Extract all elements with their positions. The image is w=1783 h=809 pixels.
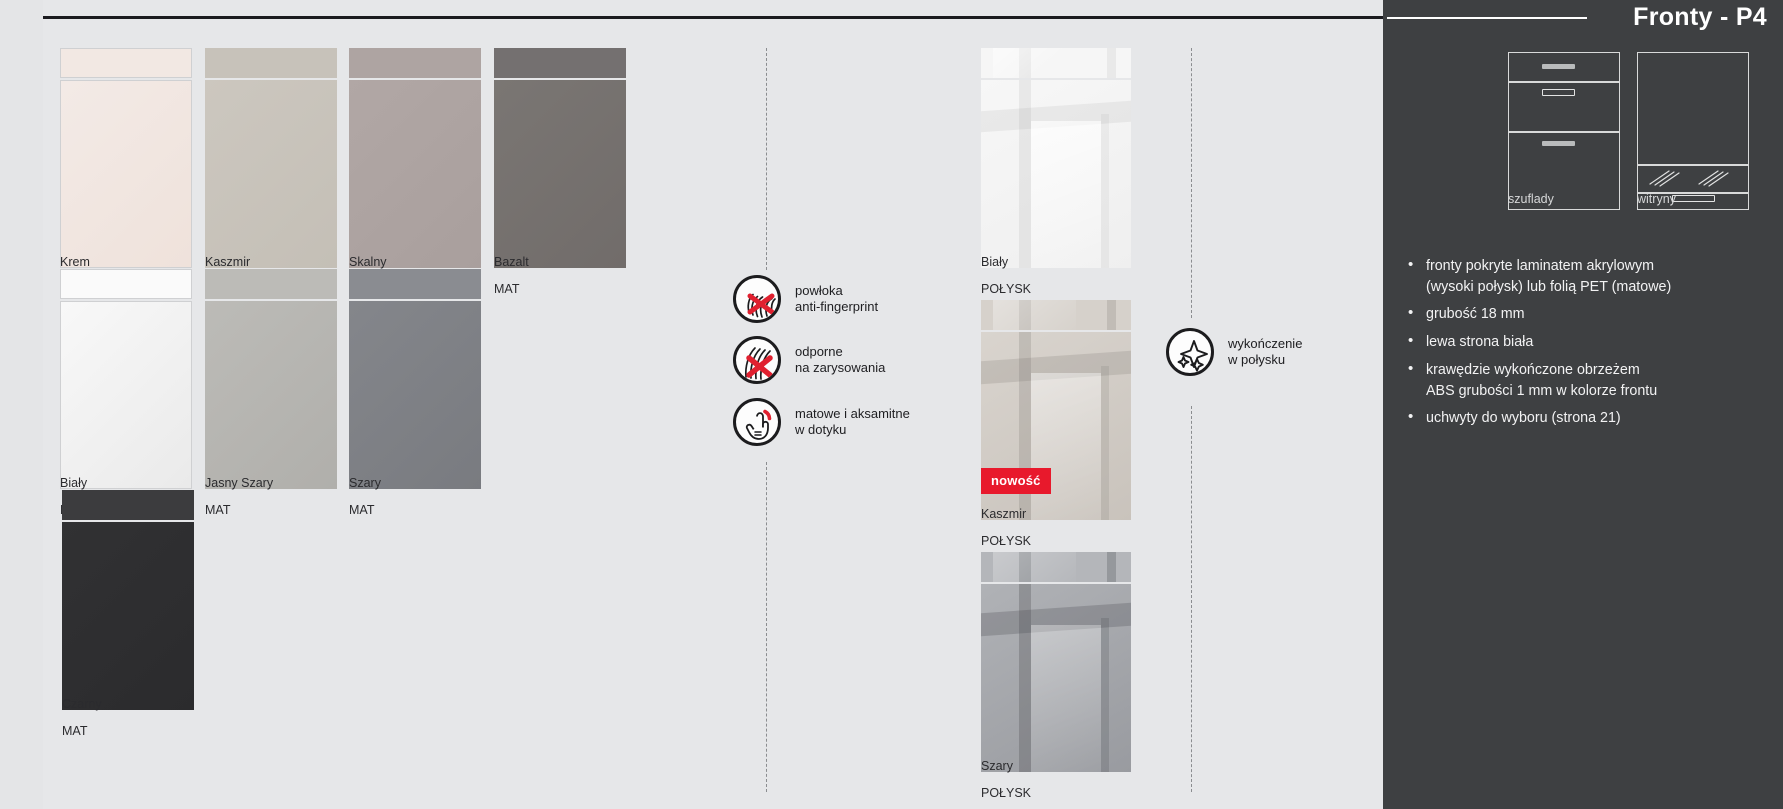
door-preview bbox=[60, 269, 192, 489]
door-body bbox=[494, 80, 626, 268]
touch-finger-icon bbox=[733, 398, 781, 446]
door-body bbox=[62, 522, 194, 710]
door-body bbox=[60, 301, 192, 489]
door-body bbox=[349, 80, 481, 268]
feature-label: powłoka anti-fingerprint bbox=[795, 283, 878, 315]
swatch-name: Biały bbox=[981, 256, 1031, 270]
door-drawer bbox=[494, 48, 626, 78]
door-preview bbox=[205, 48, 337, 268]
swatch-name: Szary bbox=[981, 760, 1031, 774]
cabinet-label-glass: witryny bbox=[1637, 192, 1676, 206]
swatch-czarny-mat[interactable]: Czarny MAT bbox=[62, 490, 194, 752]
door-body bbox=[205, 80, 337, 268]
swatch-name: Czarny bbox=[62, 698, 102, 712]
door-preview bbox=[981, 48, 1131, 268]
swatch-name: Skalny bbox=[349, 256, 387, 270]
drawer-divider bbox=[1509, 131, 1619, 133]
swatch-caption: Szary MAT bbox=[349, 464, 381, 532]
feature-label: matowe i aksamitne w dotyku bbox=[795, 406, 910, 438]
list-item: grubość 18 mm bbox=[1404, 304, 1768, 325]
fingerprint-no-icon bbox=[733, 275, 781, 323]
swatch-finish: MAT bbox=[205, 504, 273, 518]
list-item: uchwyty do wyboru (strona 21) bbox=[1404, 408, 1768, 429]
door-drawer bbox=[349, 48, 481, 78]
swatch-name: Bazalt bbox=[494, 256, 529, 270]
gloss-reflection bbox=[981, 584, 1131, 772]
panel-title-rule bbox=[1387, 17, 1587, 19]
door-drawer bbox=[60, 48, 192, 78]
door-preview bbox=[494, 48, 626, 268]
swatch-finish: POŁYSK bbox=[981, 283, 1031, 297]
door-drawer bbox=[981, 300, 1131, 330]
door-body bbox=[349, 301, 481, 489]
scratch-no-icon bbox=[733, 336, 781, 384]
handle-icon bbox=[1542, 64, 1575, 69]
spec-bullet-list: fronty pokryte laminatem akrylowym (wyso… bbox=[1404, 256, 1768, 436]
cabinet-drawers-diagram bbox=[1508, 52, 1620, 210]
swatch-caption: Czarny MAT bbox=[62, 685, 102, 753]
sparkle-icon bbox=[1166, 328, 1214, 376]
gloss-reflection bbox=[981, 552, 1131, 582]
door-drawer bbox=[60, 269, 192, 299]
swatch-name: Kaszmir bbox=[981, 508, 1031, 522]
swatch-finish: POŁYSK bbox=[981, 787, 1031, 801]
gloss-reflection bbox=[981, 300, 1131, 330]
glass-divider bbox=[1638, 164, 1748, 166]
list-item: krawędzie wykończone obrzeżem ABS gruboś… bbox=[1404, 360, 1768, 401]
door-drawer bbox=[981, 48, 1131, 78]
swatch-caption: Jasny Szary MAT bbox=[205, 464, 273, 532]
swatch-bialy-polysk[interactable]: Biały POŁYSK bbox=[981, 48, 1131, 310]
swatch-finish: MAT bbox=[349, 504, 381, 518]
cabinet-glass-diagram bbox=[1637, 52, 1749, 210]
gloss-reflection bbox=[981, 80, 1131, 268]
door-drawer bbox=[205, 269, 337, 299]
handle-icon bbox=[1542, 89, 1575, 96]
divider-right-lower bbox=[1191, 406, 1192, 792]
door-body bbox=[981, 584, 1131, 772]
door-preview bbox=[62, 490, 194, 710]
handle-icon bbox=[1542, 141, 1575, 146]
feature-label: wykończenie w połysku bbox=[1228, 336, 1302, 368]
door-body bbox=[981, 80, 1131, 268]
glass-shine-icon bbox=[1696, 169, 1736, 194]
door-body bbox=[205, 301, 337, 489]
cabinet-label-drawers: szuflady bbox=[1508, 192, 1554, 206]
swatch-finish: POŁYSK bbox=[981, 535, 1031, 549]
divider-left-lower bbox=[766, 462, 767, 792]
door-preview bbox=[205, 269, 337, 489]
door-drawer bbox=[349, 269, 481, 299]
swatch-name: Krem bbox=[60, 256, 90, 270]
door-preview bbox=[981, 552, 1131, 772]
swatch-szary-polysk[interactable]: Szary POŁYSK bbox=[981, 552, 1131, 809]
door-preview bbox=[349, 269, 481, 489]
swatch-bazalt-mat[interactable]: Bazalt MAT bbox=[494, 48, 626, 310]
divider-left-upper bbox=[766, 48, 767, 270]
door-body bbox=[60, 80, 192, 268]
swatch-finish: MAT bbox=[494, 283, 529, 297]
swatch-name: Biały bbox=[60, 477, 87, 491]
header-rule bbox=[43, 16, 1383, 19]
page-title: Fronty - P4 bbox=[1633, 3, 1767, 32]
door-preview bbox=[349, 48, 481, 268]
divider-right-upper bbox=[1191, 48, 1192, 318]
page-root: Krem MAT Kaszmir MAT Skalny MAT Bazalt bbox=[0, 0, 1783, 809]
swatch-caption: Szary POŁYSK bbox=[981, 747, 1031, 809]
glass-shine-icon bbox=[1647, 169, 1687, 194]
swatch-name: Kaszmir bbox=[205, 256, 250, 270]
swatch-caption: Bazalt MAT bbox=[494, 243, 529, 311]
feature-gloss-finish: wykończenie w połysku bbox=[1166, 328, 1302, 376]
feature-anti-fingerprint: powłoka anti-fingerprint bbox=[733, 275, 878, 323]
swatch-name: Szary bbox=[349, 477, 381, 491]
swatch-kaszmir-polysk[interactable]: nowość Kaszmir POŁYSK bbox=[981, 300, 1131, 562]
badge-nowosc: nowość bbox=[981, 468, 1051, 494]
swatch-szary-mat[interactable]: Szary MAT bbox=[349, 269, 481, 531]
door-preview bbox=[60, 48, 192, 268]
feature-soft-touch: matowe i aksamitne w dotyku bbox=[733, 398, 910, 446]
feature-scratch-resistant: odporne na zarysowania bbox=[733, 336, 885, 384]
handle-icon bbox=[1672, 195, 1715, 202]
gloss-reflection bbox=[981, 48, 1131, 78]
feature-label: odporne na zarysowania bbox=[795, 344, 885, 376]
list-item: lewa strona biała bbox=[1404, 332, 1768, 353]
list-item: fronty pokryte laminatem akrylowym (wyso… bbox=[1404, 256, 1768, 297]
door-drawer bbox=[62, 490, 194, 520]
swatch-jasny-szary-mat[interactable]: Jasny Szary MAT bbox=[205, 269, 337, 531]
swatch-finish: MAT bbox=[62, 725, 102, 739]
drawer-divider bbox=[1509, 81, 1619, 83]
swatch-name: Jasny Szary bbox=[205, 477, 273, 491]
door-drawer bbox=[205, 48, 337, 78]
door-drawer bbox=[981, 552, 1131, 582]
